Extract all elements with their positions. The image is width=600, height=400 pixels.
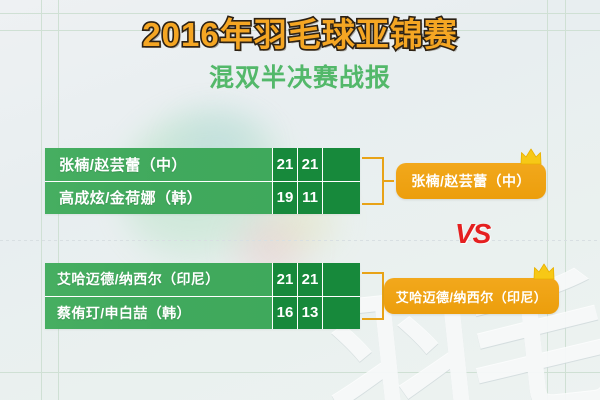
player-name: 张楠/赵芸蕾（中） — [45, 148, 272, 181]
match-block-semifinal-1: 张楠/赵芸蕾（中） 21 21 高成炫/金荷娜（韩） 19 11 — [45, 148, 360, 214]
player-name: 蔡侑玎/申白喆（韩） — [45, 297, 272, 330]
score-game-2: 13 — [297, 297, 322, 330]
winner-label: 张楠/赵芸蕾（中） — [411, 171, 531, 191]
score-game-3-empty — [322, 263, 360, 296]
table-row[interactable]: 张楠/赵芸蕾（中） 21 21 — [45, 148, 360, 181]
player-name: 艾哈迈德/纳西尔（印尼） — [45, 263, 272, 296]
score-game-2: 11 — [297, 182, 322, 215]
score-game-1: 16 — [272, 297, 297, 330]
match-block-semifinal-2: 艾哈迈德/纳西尔（印尼） 21 21 蔡侑玎/申白喆（韩） 16 13 — [45, 263, 360, 329]
score-game-2: 21 — [297, 263, 322, 296]
score-game-3-empty — [322, 297, 360, 330]
winner-pill-semifinal-2[interactable]: 艾哈迈德/纳西尔（印尼） — [384, 278, 559, 314]
page-subtitle: 混双半决赛战报 — [0, 58, 600, 94]
bracket-connector-semifinal-2 — [362, 272, 384, 320]
crown-icon — [533, 263, 555, 280]
court-baseline-bottom — [0, 372, 600, 373]
table-row[interactable]: 蔡侑玎/申白喆（韩） 16 13 — [45, 296, 360, 330]
page-title: 2016年羽毛球亚锦赛 — [0, 8, 600, 56]
score-game-3-empty — [322, 148, 360, 181]
court-center-line — [0, 240, 600, 241]
score-game-1: 19 — [272, 182, 297, 215]
infographic-canvas: 羽毛 2016年羽毛球亚锦赛 混双半决赛战报 张楠/赵芸蕾（中） 21 21 高… — [0, 0, 600, 400]
score-game-1: 21 — [272, 263, 297, 296]
score-game-3-empty — [322, 182, 360, 215]
table-row[interactable]: 艾哈迈德/纳西尔（印尼） 21 21 — [45, 263, 360, 296]
vs-label: VS — [455, 218, 490, 250]
winner-label: 艾哈迈德/纳西尔（印尼） — [396, 287, 547, 306]
bracket-connector-semifinal-1 — [362, 157, 384, 205]
score-game-2: 21 — [297, 148, 322, 181]
winner-pill-semifinal-1[interactable]: 张楠/赵芸蕾（中） — [396, 163, 546, 199]
score-game-1: 21 — [272, 148, 297, 181]
player-name: 高成炫/金荷娜（韩） — [45, 182, 272, 215]
table-row[interactable]: 高成炫/金荷娜（韩） 19 11 — [45, 181, 360, 215]
crown-icon — [520, 148, 542, 165]
